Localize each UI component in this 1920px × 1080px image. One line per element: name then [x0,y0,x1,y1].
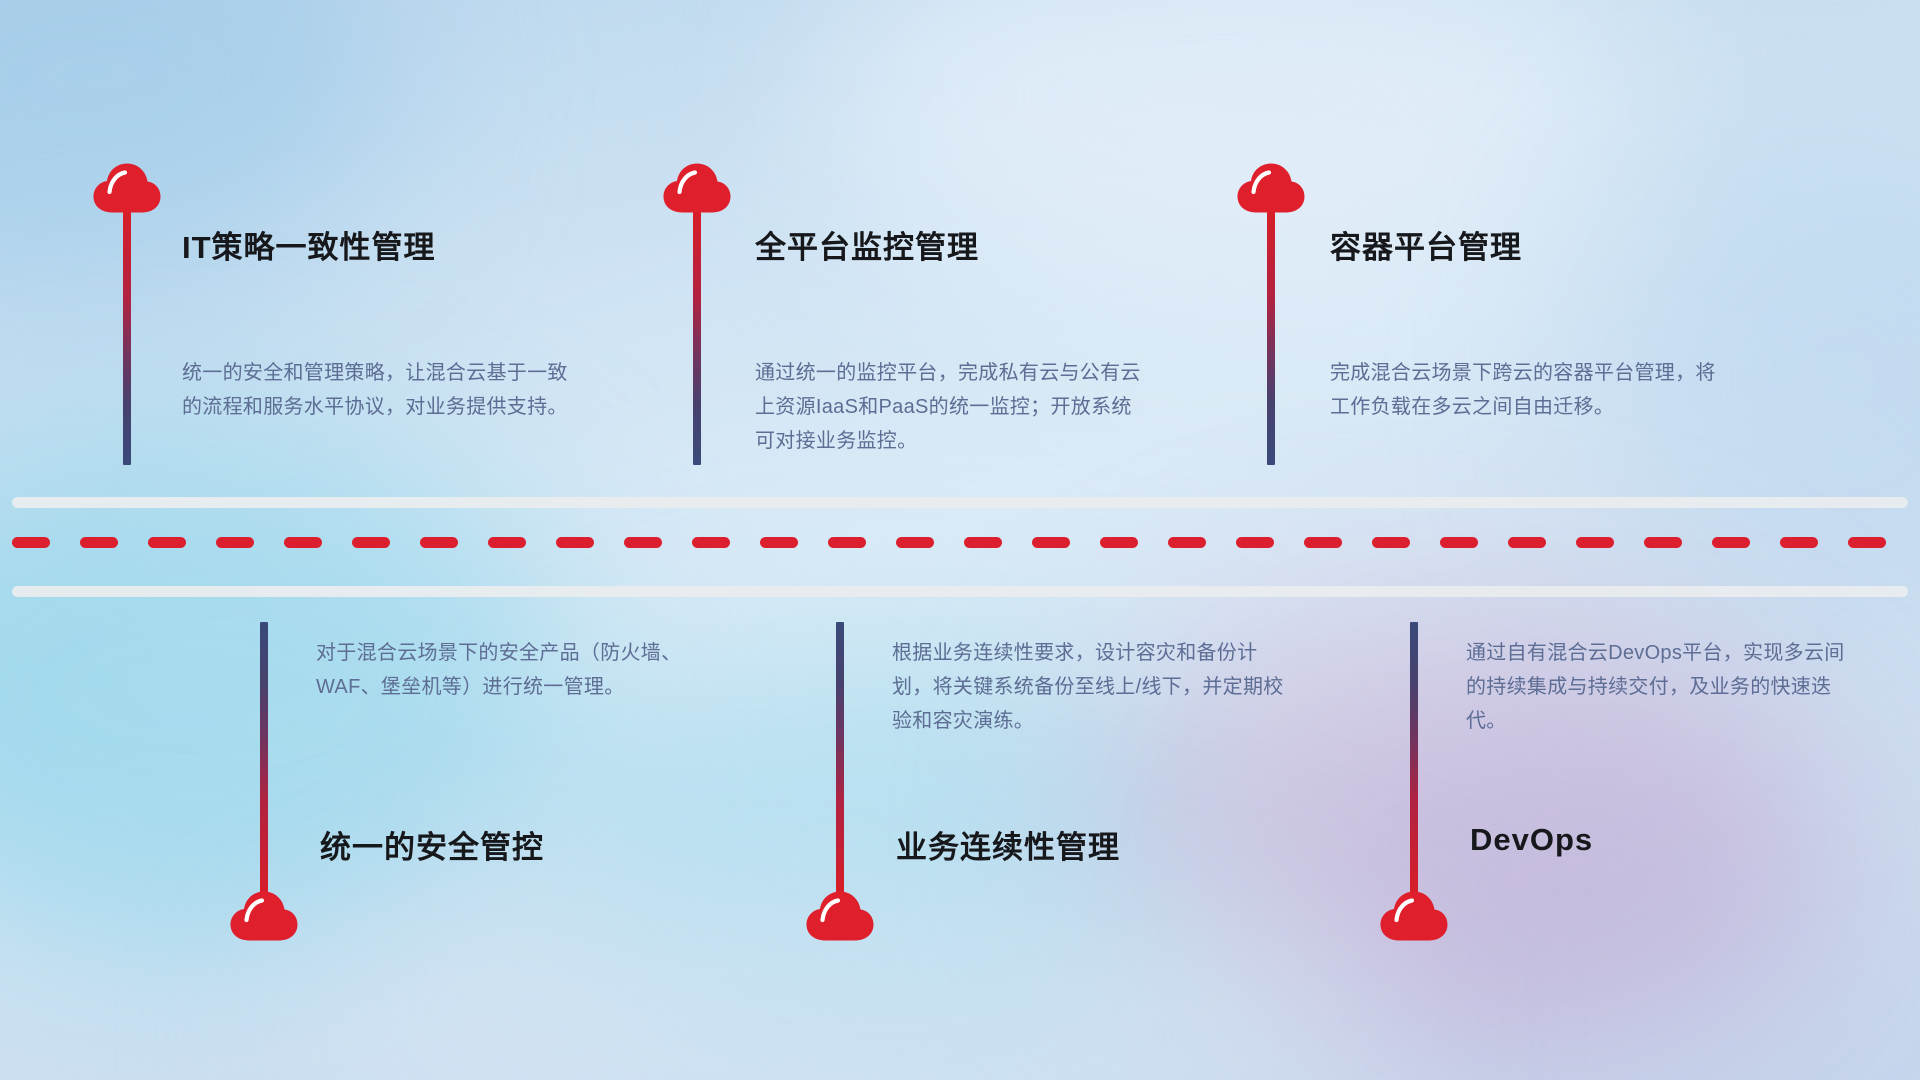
road-dash [1372,537,1410,548]
marker-body: 完成混合云场景下跨云的容器平台管理，将工作负载在多云之间自由迁移。 [1330,356,1725,424]
marker-heading: 全平台监控管理 [755,222,979,267]
road-dash [760,537,798,548]
road-dash [1100,537,1138,548]
marker-body: 统一的安全和管理策略，让混合云基于一致的流程和服务水平协议，对业务提供支持。 [182,356,577,424]
road-dash [692,537,730,548]
cloud-icon [662,162,732,214]
bokeh-blob-violet [1280,700,1840,1060]
marker-body: 对于混合云场景下的安全产品（防火墙、WAF、堡垒机等）进行统一管理。 [316,636,711,704]
cloud-icon [92,162,162,214]
road-dash [624,537,662,548]
marker-heading: 业务连续性管理 [896,822,1120,867]
marker-heading: DevOps [1470,822,1593,858]
marker-body: 通过自有混合云DevOps平台，实现多云间的持续集成与持续交付，及业务的快速迭代… [1466,636,1861,738]
road-dash [352,537,390,548]
marker-pole [260,622,268,894]
marker-pole [836,622,844,894]
marker-pole [693,212,701,465]
road-dash [1440,537,1478,548]
road-dash [488,537,526,548]
road-dash [1304,537,1342,548]
road-dash [1780,537,1818,548]
cloud-icon [1236,162,1306,214]
marker-body: 通过统一的监控平台，完成私有云与公有云上资源IaaS和PaaS的统一监控；开放系… [755,356,1150,458]
road-dash [964,537,1002,548]
cloud-icon [805,890,875,942]
road-dash [1508,537,1546,548]
road-dash [1032,537,1070,548]
road-dash [1236,537,1274,548]
road-dash [80,537,118,548]
road-dash [556,537,594,548]
cloud-icon [229,890,299,942]
marker-heading: 容器平台管理 [1330,222,1522,267]
road-dash [1644,537,1682,548]
road-dash [420,537,458,548]
road-dash [12,537,50,548]
road-dash [1848,537,1886,548]
marker-body: 根据业务连续性要求，设计容灾和备份计划，将关键系统备份至线上/线下，并定期校验和… [892,636,1287,738]
marker-pole [1410,622,1418,894]
road-dash [1168,537,1206,548]
road-dash [896,537,934,548]
road-rail-top [12,497,1908,508]
marker-pole [123,212,131,465]
infographic-canvas: IT策略一致性管理 统一的安全和管理策略，让混合云基于一致的流程和服务水平协议，… [0,0,1920,1080]
road-dash [828,537,866,548]
road-dash [148,537,186,548]
marker-heading: 统一的安全管控 [320,822,544,867]
marker-heading: IT策略一致性管理 [182,222,436,267]
road-center-dashes [12,537,1908,548]
cloud-icon [1379,890,1449,942]
road-rail-bottom [12,586,1908,597]
road-dash [284,537,322,548]
road-dash [216,537,254,548]
road-dash [1576,537,1614,548]
road-dash [1712,537,1750,548]
marker-pole [1267,212,1275,465]
